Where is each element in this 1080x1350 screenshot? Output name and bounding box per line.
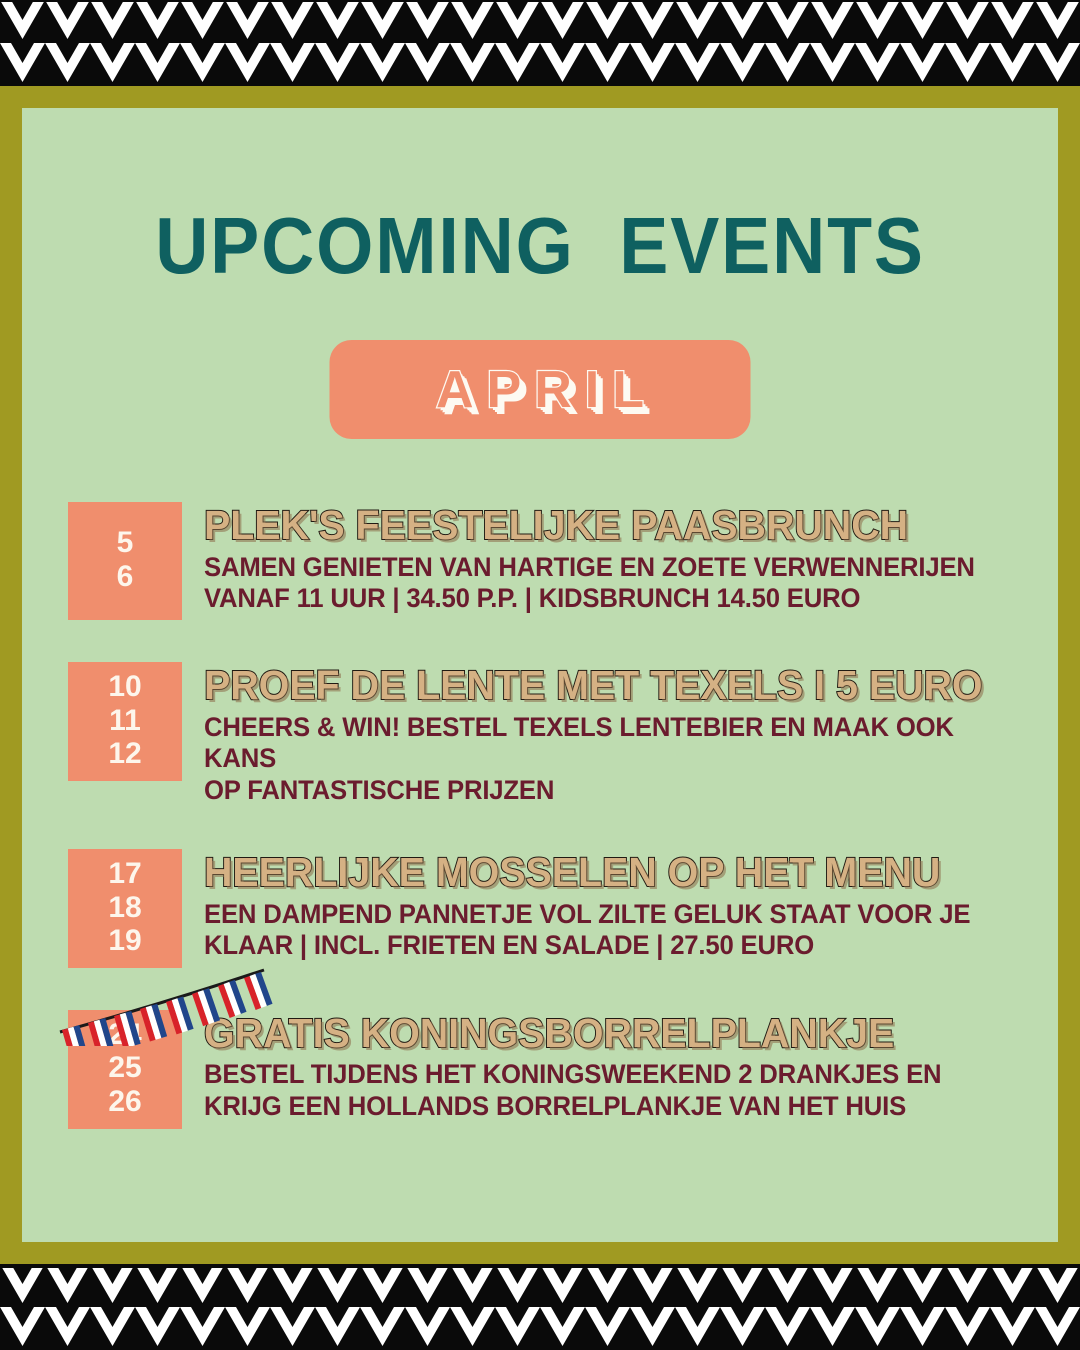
date-number: 18 (108, 891, 141, 925)
date-number: 19 (108, 924, 141, 958)
date-number: 24 (108, 1018, 141, 1052)
month-badge: APRIL (330, 340, 751, 439)
event-description-line: KLAAR | INCL. FRIETEN EN SALADE | 27.50 … (204, 930, 1015, 962)
event-description-line: OP FANTASTISCHE PRIJZEN (204, 775, 1015, 807)
event-title: PROEF DE LENTE MET TEXELS I 5 EURO (204, 664, 1007, 707)
event-description-line: KRIJG EEN HOLLANDS BORRELPLANKJE VAN HET… (204, 1091, 1015, 1123)
event-title: PLEK'S FEESTELIJKE PAASBRUNCH (204, 504, 1007, 547)
page-title: UPCOMING EVENTS (63, 206, 1016, 286)
event-date-box: 24 25 26 (68, 1010, 182, 1129)
date-number: 17 (108, 857, 141, 891)
poster-canvas: UPCOMING EVENTS APRIL 5 6 PLEK'S FEESTEL… (0, 0, 1080, 1350)
event-description-line: VANAF 11 UUR | 34.50 P.P. | KIDSBRUNCH 1… (204, 583, 1015, 615)
event-description-line: EEN DAMPEND PANNETJE VOL ZILTE GELUK STA… (204, 899, 1015, 931)
date-number: 25 (108, 1051, 141, 1085)
event-text-block: PROEF DE LENTE MET TEXELS I 5 EURO CHEER… (182, 662, 1040, 807)
event-item: 24 25 26 GRATIS KONINGSBORRELPLANKJE BES… (68, 1010, 1040, 1129)
event-description-line: BESTEL TIJDENS HET KONINGSWEEKEND 2 DRAN… (204, 1059, 1015, 1091)
event-description: CHEERS & WIN! BESTEL TEXELS LENTEBIER EN… (204, 712, 1015, 807)
event-date-box: 10 11 12 (68, 662, 182, 781)
events-list: 5 6 PLEK'S FEESTELIJKE PAASBRUNCH SAMEN … (68, 502, 1040, 1129)
event-description: BESTEL TIJDENS HET KONINGSWEEKEND 2 DRAN… (204, 1059, 1015, 1123)
event-description: EEN DAMPEND PANNETJE VOL ZILTE GELUK STA… (204, 899, 1015, 963)
event-item: 10 11 12 PROEF DE LENTE MET TEXELS I 5 E… (68, 662, 1040, 807)
event-text-block: PLEK'S FEESTELIJKE PAASBRUNCH SAMEN GENI… (182, 502, 1040, 615)
date-number: 12 (108, 737, 141, 771)
event-date-box: 5 6 (68, 502, 182, 620)
event-text-block: GRATIS KONINGSBORRELPLANKJE BESTEL TIJDE… (182, 1010, 1040, 1123)
event-title: GRATIS KONINGSBORRELPLANKJE (204, 1012, 1007, 1055)
month-label: APRIL (423, 364, 657, 416)
chevron-pattern-icon (0, 1264, 1080, 1350)
event-description: SAMEN GENIETEN VAN HARTIGE EN ZOETE VERW… (204, 552, 1015, 616)
olive-frame: UPCOMING EVENTS APRIL 5 6 PLEK'S FEESTEL… (0, 86, 1080, 1264)
event-item: 17 18 19 HEERLIJKE MOSSELEN OP HET MENU … (68, 849, 1040, 968)
event-description-line: CHEERS & WIN! BESTEL TEXELS LENTEBIER EN… (204, 712, 1015, 776)
date-number: 6 (117, 560, 134, 594)
content-panel: UPCOMING EVENTS APRIL 5 6 PLEK'S FEESTEL… (22, 108, 1058, 1242)
date-number: 10 (108, 670, 141, 704)
event-description-line: SAMEN GENIETEN VAN HARTIGE EN ZOETE VERW… (204, 552, 1015, 584)
event-title: HEERLIJKE MOSSELEN OP HET MENU (204, 851, 1007, 894)
event-text-block: HEERLIJKE MOSSELEN OP HET MENU EEN DAMPE… (182, 849, 1040, 962)
chevron-border-bottom (0, 1264, 1080, 1350)
date-number: 11 (109, 704, 141, 738)
chevron-pattern-icon (0, 0, 1080, 86)
event-item: 5 6 PLEK'S FEESTELIJKE PAASBRUNCH SAMEN … (68, 502, 1040, 620)
event-date-box: 17 18 19 (68, 849, 182, 968)
date-number: 26 (108, 1085, 141, 1119)
date-number: 5 (117, 526, 134, 560)
chevron-border-top (0, 0, 1080, 86)
